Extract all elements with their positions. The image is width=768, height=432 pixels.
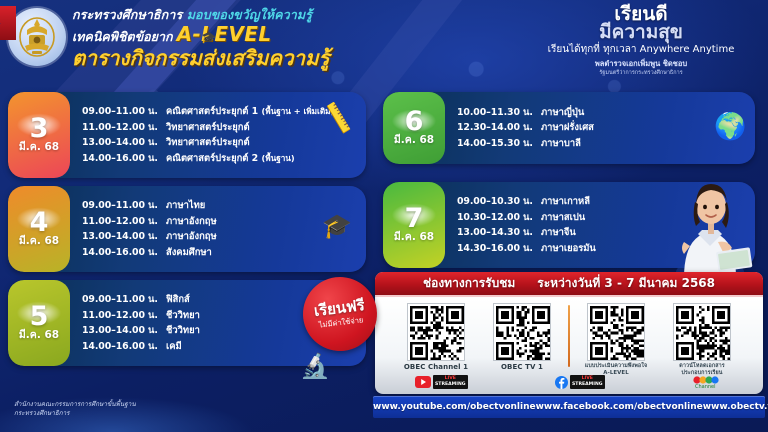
session-subject: คณิตศาสตร์ประยุกต์ 1 (พื้นฐาน + เพิ่มเติ… xyxy=(166,104,334,120)
qr-label: OBEC TV 1 xyxy=(501,363,543,372)
watch-date-range: ระหว่างวันที่ 3 - 7 มีนาคม 2568 xyxy=(537,274,715,293)
minister-name: พลตำรวจเอกเพิ่มพูน ชิดชอบ xyxy=(526,59,756,69)
session-time: 10.00–11.30 น. xyxy=(457,105,541,121)
header-title-block: กระทรวงศึกษาธิการ มอบของขวัญให้ความรู้ เ… xyxy=(72,6,402,70)
facebook-icon xyxy=(555,376,568,389)
watch-banner: ช่องทางการรับชม ระหว่างวันที่ 3 - 7 มีนา… xyxy=(375,272,763,297)
session-row: 13.00–14.30 น.ภาษาจีน xyxy=(457,225,755,241)
session-time: 13.00–14.00 น. xyxy=(82,323,166,339)
footer-line-1: สำนักงานคณะกรรมการการศึกษาขั้นพื้นฐาน xyxy=(14,400,136,409)
brand-tagline: เรียนได้ทุกที่ ทุกเวลา Anywhere Anytime xyxy=(526,43,756,57)
day-month: มี.ค. 68 xyxy=(19,329,59,342)
qr-code-row: OBEC Channel 1 OBEC TV 1 แบบประเมินความพ… xyxy=(375,299,763,375)
session-time: 11.00–12.00 น. xyxy=(82,120,166,136)
schedule-card-day-3: 3 มี.ค. 6809.00–11.00 น.คณิตศาสตร์ประยุก… xyxy=(8,92,366,178)
a-level-label: A-LEVEL xyxy=(177,22,272,46)
session-row: 09.00–11.00 น.ภาษาไทย xyxy=(82,198,366,214)
thai-ministry-emblem-icon xyxy=(8,8,66,66)
watch-title: ช่องทางการรับชม xyxy=(423,274,515,293)
qr-item-2[interactable]: OBEC TV 1 xyxy=(482,303,562,372)
session-row: 10.00–11.30 น.ภาษาญี่ปุ่น xyxy=(457,105,755,121)
schedule-card-day-4: 4 มี.ค. 6809.00–11.00 น.ภาษาไทย11.00–12.… xyxy=(8,186,366,272)
svg-text:Channel: Channel xyxy=(695,384,716,389)
facebook-url[interactable]: www.facebook.com/obectvonline xyxy=(536,402,703,412)
obec-channel-icon: Channel xyxy=(693,375,723,389)
youtube-icon xyxy=(415,376,431,388)
session-subject: ชีววิทยา xyxy=(166,308,200,324)
session-row: 11.00–12.00 น.ภาษาอังกฤษ xyxy=(82,214,366,230)
session-subject: เคมี xyxy=(166,339,182,355)
session-row: 14.00–16.00 น.สังคมศึกษา xyxy=(82,245,366,261)
session-subject: ภาษาอังกฤษ xyxy=(166,214,217,230)
technique-text: เทคนิคพิชิตข้อยาก xyxy=(72,29,173,44)
session-row: 13.00–14.00 น.วิทยาศาสตร์ประยุกต์ xyxy=(82,135,366,151)
session-subject: สังคมศึกษา xyxy=(166,245,212,261)
page-title: ตารางกิจกรรมส่งเสริมความรู้ xyxy=(72,46,402,70)
session-row: 14.00–16.00 น.คณิตศาสตร์ประยุกต์ 2 (พื้น… xyxy=(82,151,366,167)
date-badge-3: 3 มี.ค. 68 xyxy=(8,92,70,178)
youtube-url[interactable]: www.youtube.com/obectvonline xyxy=(373,402,536,412)
session-time: 14.30–16.00 น. xyxy=(457,241,541,257)
session-subject: ภาษาจีน xyxy=(541,225,576,241)
session-time: 09.00–11.00 น. xyxy=(82,104,166,120)
day-month: มี.ค. 68 xyxy=(394,134,434,147)
live-streaming-tag: LIVE STREAMING xyxy=(433,375,468,388)
session-subject: ภาษาอังกฤษ xyxy=(166,229,217,245)
qr-item-1[interactable]: OBEC Channel 1 xyxy=(396,303,476,372)
session-time: 14.00–16.00 น. xyxy=(82,245,166,261)
session-note: (พื้นฐาน) xyxy=(261,153,294,163)
session-row: 14.30–16.00 น.ภาษาเยอรมัน xyxy=(457,241,755,257)
obectv-url[interactable]: www.obectv.tv xyxy=(703,402,768,412)
page-header: กระทรวงศึกษาธิการ มอบของขวัญให้ความรู้ เ… xyxy=(0,0,768,88)
streaming-label: STREAMING xyxy=(435,382,466,387)
session-subject: วิทยาศาสตร์ประยุกต์ xyxy=(166,135,250,151)
ministry-name: กระทรวงศึกษาธิการ xyxy=(72,7,182,22)
session-subject: ภาษาสเปน xyxy=(541,210,585,226)
session-time: 13.00–14.00 น. xyxy=(82,135,166,151)
session-subject: คณิตศาสตร์ประยุกต์ 2 (พื้นฐาน) xyxy=(166,151,295,167)
qr-item-3[interactable]: แบบประเมินความพึงพอใจA-LEVEL xyxy=(576,303,656,377)
session-subject: ภาษาฝรั่งเศส xyxy=(541,120,594,136)
gift-of-knowledge-text: มอบของขวัญให้ความรู้ xyxy=(187,7,312,22)
footer-line-2: กระทรวงศึกษาธิการ xyxy=(14,409,136,418)
date-badge-4: 4 มี.ค. 68 xyxy=(8,186,70,272)
session-time: 11.00–12.00 น. xyxy=(82,214,166,230)
session-subject: วิทยาศาสตร์ประยุกต์ xyxy=(166,120,250,136)
day-month: มี.ค. 68 xyxy=(19,235,59,248)
date-badge-5: 5 มี.ค. 68 xyxy=(8,280,70,366)
obec-channel-badge[interactable]: Channel xyxy=(693,375,723,389)
minister-role: รัฐมนตรีว่าการกระทรวงศึกษาธิการ xyxy=(526,69,756,77)
session-list: 10.00–11.30 น.ภาษาญี่ปุ่น12.30–14.00 น.ภ… xyxy=(445,92,755,164)
qr-code-icon[interactable] xyxy=(493,303,551,361)
qr-code-icon[interactable] xyxy=(587,303,645,361)
session-list: 09.00–11.00 น.ภาษาไทย11.00–12.00 น.ภาษาอ… xyxy=(70,186,366,272)
session-subject: ภาษาเยอรมัน xyxy=(541,241,596,257)
youtube-live-badge[interactable]: LIVE STREAMING xyxy=(415,375,468,388)
day-month: มี.ค. 68 xyxy=(19,141,59,154)
session-time: 09.00–11.00 น. xyxy=(82,198,166,214)
session-row: 09.00–10.30 น.ภาษาเกาหลี xyxy=(457,194,755,210)
session-time: 12.30–14.00 น. xyxy=(457,120,541,136)
session-list: 09.00–10.30 น.ภาษาเกาหลี10.30–12.00 น.ภา… xyxy=(445,182,755,268)
session-row: 13.00–14.00 น.ภาษาอังกฤษ xyxy=(82,229,366,245)
session-row: 10.30–12.00 น.ภาษาสเปน xyxy=(457,210,755,226)
qr-item-4[interactable]: ดาวน์โหลดเอกสารประกอบการเรียน xyxy=(662,303,742,377)
qr-code-icon[interactable] xyxy=(407,303,465,361)
facebook-live-badge[interactable]: LIVE STREAMING xyxy=(555,375,605,388)
session-time: 14.00–16.00 น. xyxy=(82,151,166,167)
graduation-cap-icon: 🎓 xyxy=(200,30,217,46)
session-time: 09.00–11.00 น. xyxy=(82,292,166,308)
day-number: 6 xyxy=(405,109,424,134)
session-subject: ฟิสิกส์ xyxy=(166,292,190,308)
watch-channels-panel: ช่องทางการรับชม ระหว่างวันที่ 3 - 7 มีนา… xyxy=(375,272,763,394)
session-time: 09.00–10.30 น. xyxy=(457,194,541,210)
session-row: 12.30–14.00 น.ภาษาฝรั่งเศส xyxy=(457,120,755,136)
qr-label: OBEC Channel 1 xyxy=(404,363,468,372)
brand-block: เรียนดี มีความสุข เรียนได้ทุกที่ ทุกเวลา… xyxy=(526,6,756,77)
day-number: 4 xyxy=(30,210,49,235)
day-number: 3 xyxy=(30,116,49,141)
session-note: (พื้นฐาน + เพิ่มเติม) xyxy=(261,106,334,116)
banner-ribbon-tail xyxy=(0,6,16,40)
infographic-poster: กระทรวงศึกษาธิการ มอบของขวัญให้ความรู้ เ… xyxy=(0,0,768,432)
date-badge-7: 7 มี.ค. 68 xyxy=(383,182,445,268)
day-month: มี.ค. 68 xyxy=(394,231,434,244)
session-time: 13.00–14.30 น. xyxy=(457,225,541,241)
schedule-card-day-7: 7 มี.ค. 6809.00–10.30 น.ภาษาเกาหลี10.30–… xyxy=(383,182,755,268)
date-badge-6: 6 มี.ค. 68 xyxy=(383,92,445,164)
session-time: 13.00–14.00 น. xyxy=(82,229,166,245)
brand-title-line2: มีความสุข xyxy=(526,23,756,41)
qr-code-icon[interactable] xyxy=(673,303,731,361)
url-strip: www.youtube.com/obectvonline www.faceboo… xyxy=(373,396,765,418)
session-row: 09.00–11.00 น.คณิตศาสตร์ประยุกต์ 1 (พื้น… xyxy=(82,104,366,120)
emblem-svg xyxy=(16,15,58,59)
streaming-label: STREAMING xyxy=(572,382,603,387)
session-time: 14.00–16.00 น. xyxy=(82,339,166,355)
day-number: 5 xyxy=(30,304,49,329)
schedule-card-day-6: 6 มี.ค. 6810.00–11.30 น.ภาษาญี่ปุ่น12.30… xyxy=(383,92,755,164)
day-number: 7 xyxy=(405,206,424,231)
session-time: 14.00–15.30 น. xyxy=(457,136,541,152)
session-subject: ภาษาญี่ปุ่น xyxy=(541,105,584,121)
header-line-2: เทคนิคพิชิตข้อยากA-LEVEL xyxy=(72,24,402,47)
footer-credit: สำนักงานคณะกรรมการการศึกษาขั้นพื้นฐาน กร… xyxy=(14,400,136,418)
session-subject: ภาษาเกาหลี xyxy=(541,194,590,210)
session-time: 10.30–12.00 น. xyxy=(457,210,541,226)
session-row: 14.00–15.30 น.ภาษาบาลี xyxy=(457,136,755,152)
session-time: 11.00–12.00 น. xyxy=(82,308,166,324)
session-subject: ภาษาไทย xyxy=(166,198,205,214)
live-streaming-tag: LIVE STREAMING xyxy=(570,375,605,388)
qr-divider xyxy=(568,305,570,367)
header-line-1: กระทรวงศึกษาธิการ มอบของขวัญให้ความรู้ xyxy=(72,6,402,23)
session-subject: ชีววิทยา xyxy=(166,323,200,339)
platform-badges-row: LIVE STREAMING LIVE STREAMING xyxy=(375,372,763,392)
session-subject: ภาษาบาลี xyxy=(541,136,581,152)
session-row: 11.00–12.00 น.วิทยาศาสตร์ประยุกต์ xyxy=(82,120,366,136)
session-list: 09.00–11.00 น.คณิตศาสตร์ประยุกต์ 1 (พื้น… xyxy=(70,92,366,178)
